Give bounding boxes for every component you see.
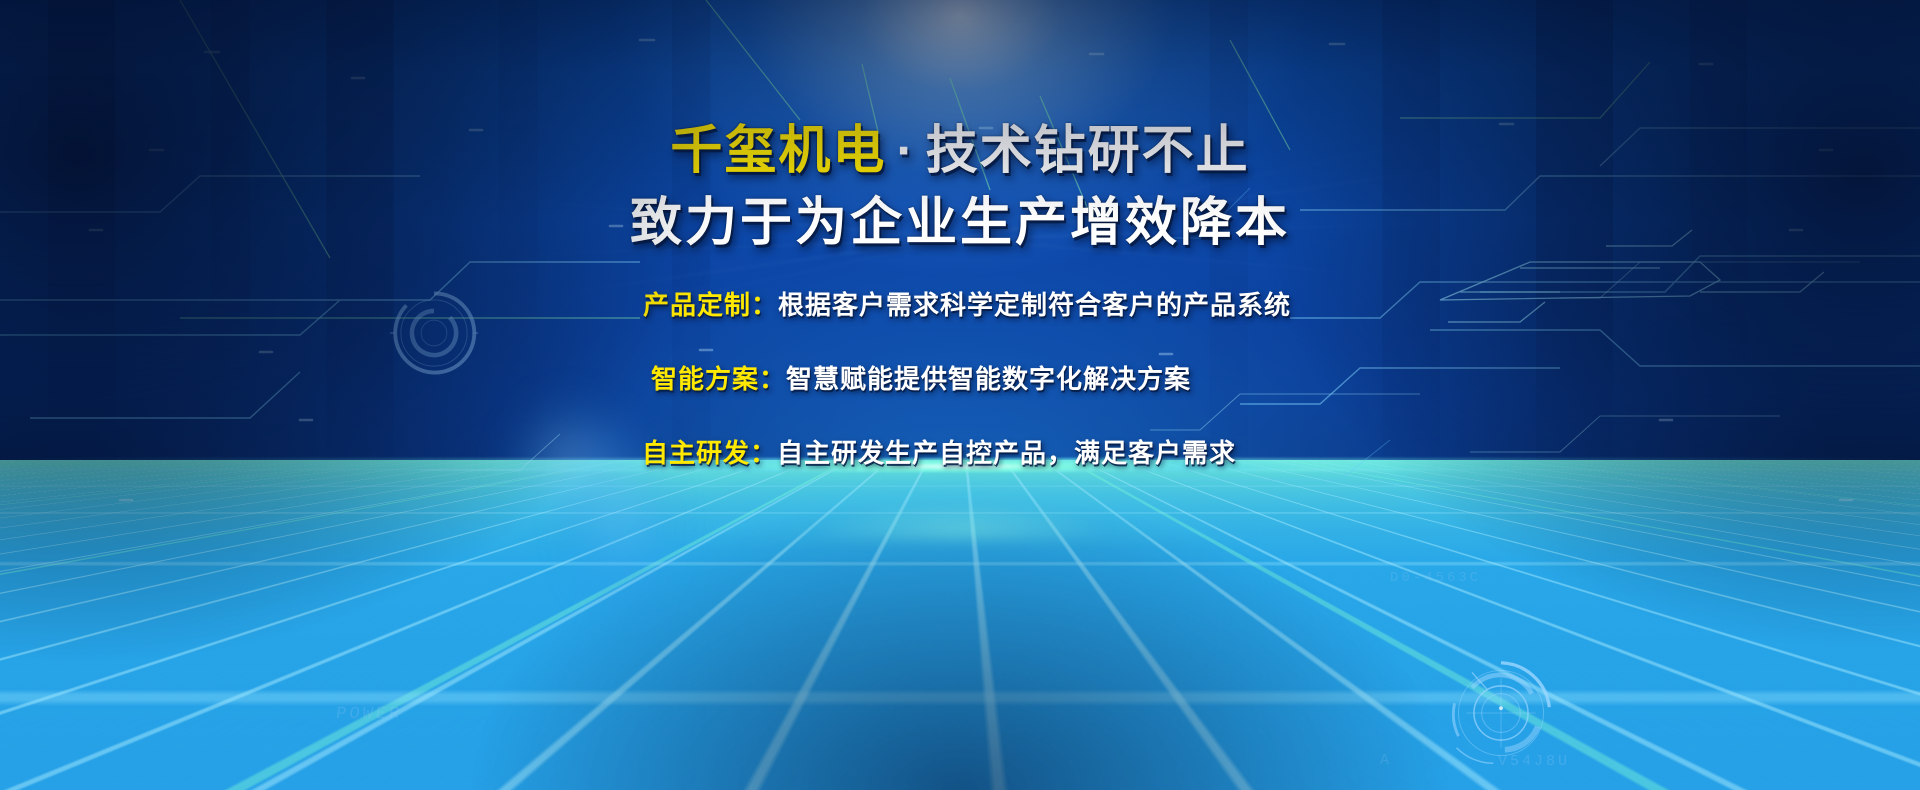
background-vignette — [0, 0, 1920, 790]
hero-banner: POWER D0-4563C V54J8U A 千玺机电·技术钻研不止 致力于为… — [0, 0, 1920, 790]
